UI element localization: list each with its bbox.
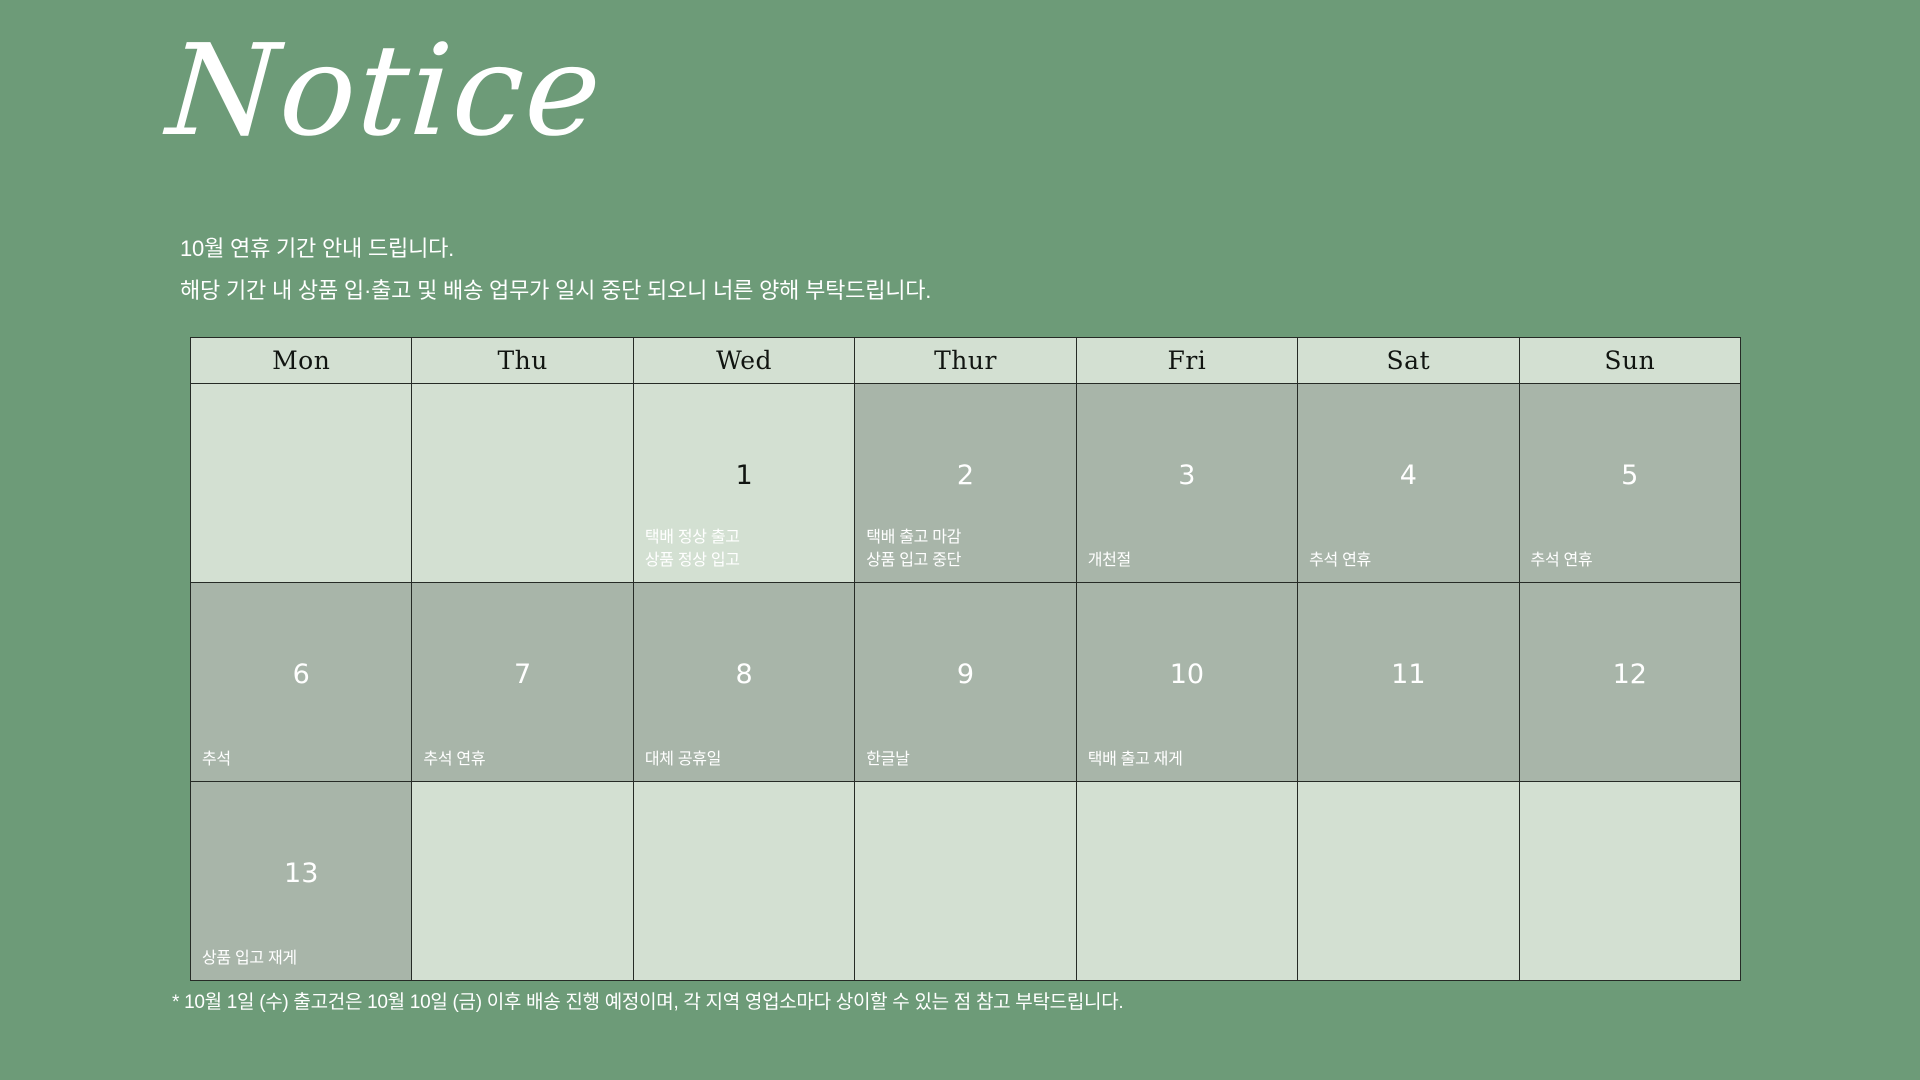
day-number: 4	[1298, 462, 1518, 489]
calendar-empty-cell	[1519, 782, 1740, 981]
calendar-week-row: 6추석7추석 연휴8대체 공휴일9한글날10택배 출고 재게1112	[191, 583, 1741, 782]
day-note-line: 추석 연휴	[1309, 549, 1512, 572]
day-note: 개천절	[1088, 549, 1291, 572]
notice-page: Notice 10월 연휴 기간 안내 드립니다. 해당 기간 내 상품 입·출…	[0, 0, 1920, 1080]
day-number: 6	[191, 661, 411, 688]
calendar-empty-cell	[855, 782, 1076, 981]
day-note-line: 상품 입고 재게	[202, 947, 405, 970]
calendar-body: 1택배 정상 출고상품 정상 입고2택배 출고 마감상품 입고 중단3개천절4추…	[191, 384, 1741, 981]
day-note: 택배 정상 출고상품 정상 입고	[645, 526, 848, 572]
day-note: 상품 입고 재게	[202, 947, 405, 970]
calendar-day-cell-4: 4추석 연휴	[1298, 384, 1519, 583]
calendar-empty-cell	[1298, 782, 1519, 981]
calendar-day-cell-9: 9한글날	[855, 583, 1076, 782]
calendar-header-row: MonThuWedThurFriSatSun	[191, 338, 1741, 384]
calendar-day-cell-6: 6추석	[191, 583, 412, 782]
calendar-day-cell-1: 1택배 정상 출고상품 정상 입고	[633, 384, 854, 583]
day-number: 5	[1520, 462, 1740, 489]
day-note: 택배 출고 마감상품 입고 중단	[866, 526, 1069, 572]
calendar-day-cell-5: 5추석 연휴	[1519, 384, 1740, 583]
calendar-empty-cell	[191, 384, 412, 583]
intro-text-block: 10월 연휴 기간 안내 드립니다. 해당 기간 내 상품 입·출고 및 배송 …	[180, 228, 931, 312]
day-number: 12	[1520, 661, 1740, 688]
day-note: 한글날	[866, 748, 1069, 771]
calendar-header-thur: Thur	[855, 338, 1076, 384]
day-note-line: 택배 정상 출고	[645, 526, 848, 549]
day-note: 추석 연휴	[423, 748, 626, 771]
day-note: 추석	[202, 748, 405, 771]
calendar-header-fri: Fri	[1076, 338, 1297, 384]
day-note-line: 대체 공휴일	[645, 748, 848, 771]
day-number: 10	[1077, 661, 1297, 688]
day-note: 택배 출고 재게	[1088, 748, 1291, 771]
calendar-day-cell-2: 2택배 출고 마감상품 입고 중단	[855, 384, 1076, 583]
calendar-day-cell-10: 10택배 출고 재게	[1076, 583, 1297, 782]
calendar-header-mon: Mon	[191, 338, 412, 384]
day-note: 추석 연휴	[1309, 549, 1512, 572]
calendar-week-row: 1택배 정상 출고상품 정상 입고2택배 출고 마감상품 입고 중단3개천절4추…	[191, 384, 1741, 583]
intro-line-1: 10월 연휴 기간 안내 드립니다.	[180, 228, 931, 270]
day-number: 8	[634, 661, 854, 688]
calendar-day-cell-3: 3개천절	[1076, 384, 1297, 583]
day-note: 추석 연휴	[1531, 549, 1734, 572]
day-number: 11	[1298, 661, 1518, 688]
day-note-line: 상품 정상 입고	[645, 549, 848, 572]
day-number: 3	[1077, 462, 1297, 489]
calendar-empty-cell	[633, 782, 854, 981]
intro-line-2: 해당 기간 내 상품 입·출고 및 배송 업무가 일시 중단 되오니 너른 양해…	[180, 270, 931, 312]
calendar-empty-cell	[1076, 782, 1297, 981]
holiday-calendar: MonThuWedThurFriSatSun 1택배 정상 출고상품 정상 입고…	[190, 337, 1741, 981]
day-note-line: 택배 출고 재게	[1088, 748, 1291, 771]
day-note-line: 추석 연휴	[423, 748, 626, 771]
day-number: 7	[412, 661, 632, 688]
page-title: Notice	[164, 28, 607, 154]
day-note-line: 택배 출고 마감	[866, 526, 1069, 549]
footer-note: * 10월 1일 (수) 출고건은 10월 10일 (금) 이후 배송 진행 예…	[172, 990, 1123, 1016]
calendar-day-cell-8: 8대체 공휴일	[633, 583, 854, 782]
calendar-empty-cell	[412, 782, 633, 981]
calendar-empty-cell	[412, 384, 633, 583]
calendar-day-cell-13: 13상품 입고 재게	[191, 782, 412, 981]
day-note-line: 추석 연휴	[1531, 549, 1734, 572]
calendar-day-cell-11: 11	[1298, 583, 1519, 782]
calendar-header-sat: Sat	[1298, 338, 1519, 384]
calendar-day-cell-12: 12	[1519, 583, 1740, 782]
calendar-header-thu: Thu	[412, 338, 633, 384]
day-number: 9	[855, 661, 1075, 688]
calendar-week-row: 13상품 입고 재게	[191, 782, 1741, 981]
day-number: 2	[855, 462, 1075, 489]
calendar-header-wed: Wed	[633, 338, 854, 384]
day-note-line: 상품 입고 중단	[866, 549, 1069, 572]
calendar-day-cell-7: 7추석 연휴	[412, 583, 633, 782]
calendar-header-sun: Sun	[1519, 338, 1740, 384]
day-note-line: 추석	[202, 748, 405, 771]
day-number: 1	[634, 462, 854, 489]
day-number: 13	[191, 860, 411, 887]
day-note-line: 한글날	[866, 748, 1069, 771]
day-note: 대체 공휴일	[645, 748, 848, 771]
day-note-line: 개천절	[1088, 549, 1291, 572]
